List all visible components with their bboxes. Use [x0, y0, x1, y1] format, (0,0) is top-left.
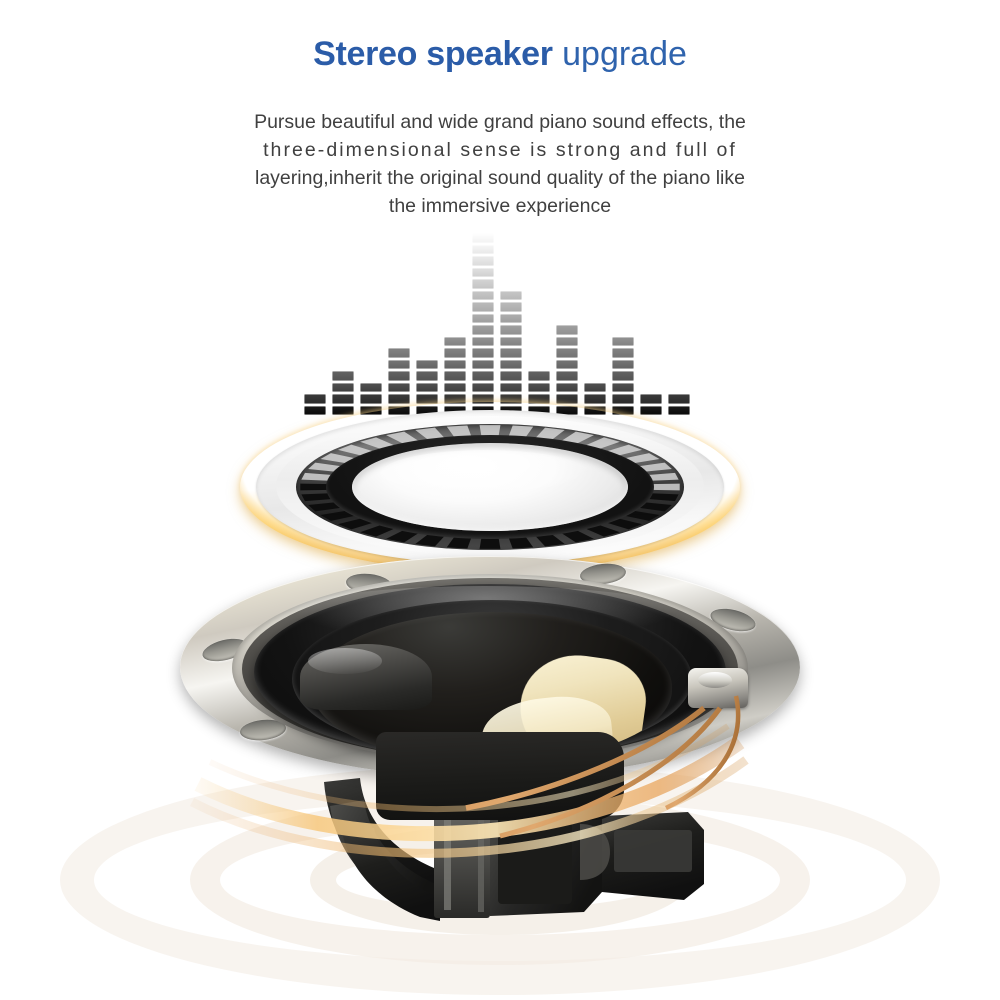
equalizer-segment [388, 360, 410, 369]
equalizer-segment [388, 383, 410, 392]
equalizer-bars-icon [304, 232, 708, 415]
equalizer-segment [556, 360, 578, 369]
equalizer-segment [612, 371, 634, 380]
equalizer-segment [444, 337, 466, 346]
equalizer-segment [416, 383, 438, 392]
equalizer-segment [444, 360, 466, 369]
equalizer-segment [444, 371, 466, 380]
equalizer-segment [500, 337, 522, 346]
equalizer-segment [500, 302, 522, 311]
grille-dome-highlight [380, 450, 590, 498]
equalizer-column [500, 291, 522, 415]
equalizer-segment [556, 371, 578, 380]
equalizer-segment [528, 371, 550, 380]
equalizer-segment [556, 348, 578, 357]
equalizer-segment [472, 279, 494, 288]
equalizer-segment [612, 360, 634, 369]
equalizer-segment [444, 348, 466, 357]
subtitle-line-3: layering,inherit the original sound qual… [205, 164, 795, 192]
page-subtitle: Pursue beautiful and wide grand piano so… [205, 108, 795, 220]
equalizer-segment [388, 371, 410, 380]
equalizer-segment [500, 348, 522, 357]
page-title: Stereo speaker upgrade [0, 32, 1000, 76]
equalizer-segment [472, 268, 494, 277]
equalizer-segment [472, 360, 494, 369]
equalizer-segment [332, 383, 354, 392]
equalizer-segment [332, 371, 354, 380]
subtitle-line-2: three-dimensional sense is strong and fu… [205, 136, 795, 164]
equalizer-segment [472, 371, 494, 380]
equalizer-column [472, 233, 494, 415]
equalizer-segment [500, 383, 522, 392]
equalizer-segment [472, 383, 494, 392]
equalizer-segment [360, 383, 382, 392]
equalizer-segment [472, 291, 494, 300]
equalizer-segment [416, 371, 438, 380]
equalizer-segment [472, 348, 494, 357]
equalizer-segment [472, 302, 494, 311]
equalizer-segment [500, 371, 522, 380]
equalizer-segment [500, 291, 522, 300]
equalizer-segment [612, 348, 634, 357]
equalizer-segment [556, 325, 578, 334]
equalizer-segment [472, 337, 494, 346]
equalizer-segment [472, 314, 494, 323]
equalizer-segment [500, 325, 522, 334]
subtitle-line-1: Pursue beautiful and wide grand piano so… [205, 108, 795, 136]
equalizer-segment [612, 337, 634, 346]
page-title-light: upgrade [553, 35, 687, 73]
equalizer-segment [500, 314, 522, 323]
equalizer-segment [472, 233, 494, 242]
equalizer-segment [472, 245, 494, 254]
center-plug-highlight [308, 648, 382, 674]
subtitle-line-4: the immersive experience [205, 192, 795, 220]
equalizer-segment [472, 256, 494, 265]
equalizer-segment [416, 360, 438, 369]
equalizer-segment [584, 383, 606, 392]
equalizer-segment [444, 383, 466, 392]
equalizer-segment [472, 325, 494, 334]
equalizer-segment [556, 337, 578, 346]
equalizer-segment [500, 360, 522, 369]
page-title-bold: Stereo speaker [313, 35, 553, 73]
speaker-grille-ring [240, 402, 740, 572]
voice-coil-windings [376, 732, 624, 820]
equalizer-segment [612, 383, 634, 392]
marketing-banner: Stereo speaker upgrade Pursue beautiful … [0, 0, 1000, 1000]
speaker-driver-cutaway [180, 556, 820, 956]
equalizer-segment [388, 348, 410, 357]
equalizer-segment [556, 383, 578, 392]
speaker-terminal-button [698, 672, 732, 688]
equalizer-segment [528, 383, 550, 392]
